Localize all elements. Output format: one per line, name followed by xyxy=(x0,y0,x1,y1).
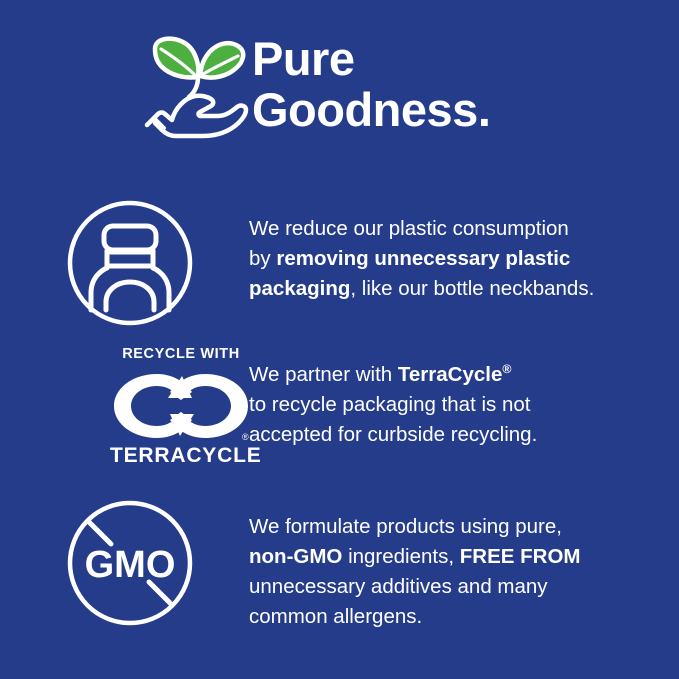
bottle-neckband-circle-icon xyxy=(50,190,210,335)
terracycle-logo: RECYCLE WITH xyxy=(50,340,210,485)
pure-goodness-infographic: Pure Goodness. We reduce our plastic con… xyxy=(0,0,679,679)
terracycle-registered-mark: ® xyxy=(242,432,249,442)
hand-holding-sprout-icon xyxy=(142,34,250,140)
no-gmo-circle-icon: GMO xyxy=(50,490,210,635)
terracycle-logo-top-text: RECYCLE WITH xyxy=(110,346,252,362)
claim-text-terracycle: We partner with TerraCycle® to recycle p… xyxy=(249,360,664,450)
claim-text-non-gmo: We formulate products using pure, non-GM… xyxy=(249,512,664,632)
claim-row-plastic-reduction: We reduce our plastic consumption by rem… xyxy=(0,190,679,335)
recycle-infinity-icon: ® xyxy=(110,370,252,442)
header: Pure Goodness. xyxy=(0,0,679,165)
claim-row-non-gmo: GMO We formulate products using pure, no… xyxy=(0,490,679,640)
page-title: Pure Goodness. xyxy=(252,33,490,135)
claim-text-plastic-reduction: We reduce our plastic consumption by rem… xyxy=(249,214,664,304)
claim-row-terracycle: RECYCLE WITH xyxy=(0,340,679,485)
gmo-label: GMO xyxy=(85,544,176,586)
terracycle-logo-bottom-text: TERRACYCLE xyxy=(110,444,252,468)
